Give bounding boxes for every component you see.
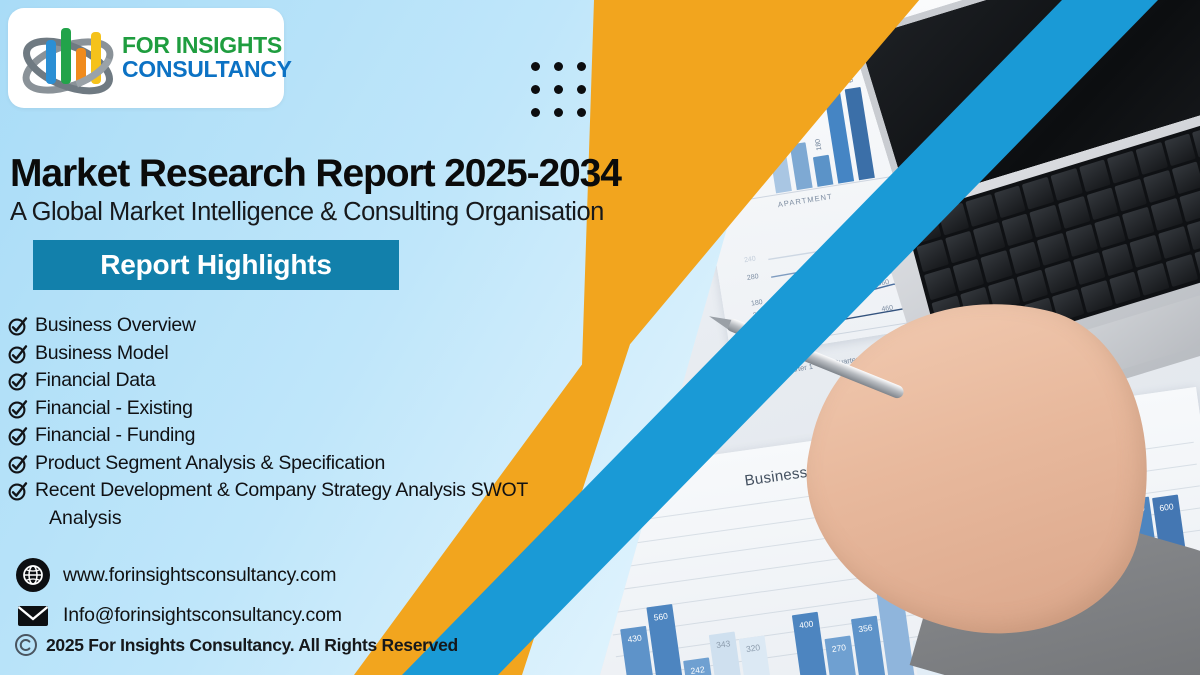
grid-dot bbox=[554, 108, 563, 117]
page-subtitle: A Global Market Intelligence & Consultin… bbox=[10, 198, 604, 227]
list-item-label: Product Segment Analysis & Specification bbox=[35, 450, 385, 478]
bar: 242 bbox=[683, 657, 716, 675]
logo-line-2: CONSULTANCY bbox=[122, 58, 292, 82]
bar: 180 bbox=[813, 155, 833, 187]
bar: 341 bbox=[790, 142, 813, 190]
grid-dot bbox=[577, 108, 586, 117]
logo-card[interactable]: FOR INSIGHTS CONSULTANCY bbox=[8, 8, 284, 108]
circled-check-icon bbox=[8, 397, 28, 421]
grid-dot bbox=[554, 62, 563, 71]
grid-dot bbox=[531, 85, 540, 94]
list-item: Business Overview bbox=[8, 312, 668, 340]
list-item-label: Financial - Funding bbox=[35, 422, 195, 450]
page-title: Market Research Report 2025-2034 bbox=[10, 152, 621, 196]
grid-dot bbox=[554, 85, 563, 94]
circled-check-icon bbox=[8, 424, 28, 448]
bar-category-label: APARTMENT bbox=[777, 192, 833, 210]
highlights-list: Business Overview Business Model Financi… bbox=[8, 312, 668, 532]
list-item-label: Recent Development & Company Strategy An… bbox=[35, 477, 528, 505]
list-item: Financial - Existing bbox=[8, 395, 668, 423]
bar-chart-swoosh-logo-icon bbox=[20, 16, 116, 100]
grid-dot bbox=[531, 108, 540, 117]
bar: 320 bbox=[739, 635, 774, 675]
list-item: Financial - Funding bbox=[8, 422, 668, 450]
list-item: Product Segment Analysis & Specification bbox=[8, 450, 668, 478]
copyright-row: 2025 For Insights Consultancy. All Right… bbox=[14, 633, 458, 657]
grid-dot bbox=[577, 85, 586, 94]
grid-dot bbox=[577, 62, 586, 71]
list-item-label: Business Overview bbox=[35, 312, 196, 340]
circled-check-icon bbox=[8, 342, 28, 366]
circled-check-icon bbox=[8, 369, 28, 393]
email-row[interactable]: Info@forinsightsconsultancy.com bbox=[16, 598, 342, 632]
circled-check-icon bbox=[8, 314, 28, 338]
globe-icon bbox=[16, 558, 50, 592]
bar: 270 bbox=[824, 635, 857, 675]
bar: 560 bbox=[646, 604, 687, 675]
list-item-label: Business Model bbox=[35, 340, 168, 368]
website-row[interactable]: www.forinsightsconsultancy.com bbox=[16, 558, 336, 592]
bar: 400 bbox=[792, 612, 829, 675]
logo-line-1: FOR INSIGHTS bbox=[122, 34, 292, 58]
list-item: Recent Development & Company Strategy An… bbox=[8, 477, 668, 505]
circled-check-icon bbox=[8, 452, 28, 476]
bar-value: 180 bbox=[815, 138, 824, 151]
copyright-icon bbox=[14, 633, 38, 657]
poster-canvas: 602 341 180 810 645 APARTMENT 674 946 64… bbox=[0, 0, 1200, 675]
grid-dot bbox=[531, 62, 540, 71]
list-item-continuation: Analysis bbox=[49, 505, 668, 533]
list-item: Business Model bbox=[8, 340, 668, 368]
dot-grid-decoration bbox=[531, 62, 586, 117]
list-item-label: Financial Data bbox=[35, 367, 155, 395]
envelope-icon bbox=[16, 598, 50, 632]
list-item: Financial Data bbox=[8, 367, 668, 395]
list-item-label: Financial - Existing bbox=[35, 395, 193, 423]
website-label: www.forinsightsconsultancy.com bbox=[63, 564, 336, 587]
email-label: Info@forinsightsconsultancy.com bbox=[63, 604, 342, 627]
report-highlights-badge: Report Highlights bbox=[33, 240, 399, 290]
circled-check-icon bbox=[8, 479, 28, 503]
logo-wordmark: FOR INSIGHTS CONSULTANCY bbox=[122, 34, 292, 82]
copyright-label: 2025 For Insights Consultancy. All Right… bbox=[46, 635, 458, 656]
